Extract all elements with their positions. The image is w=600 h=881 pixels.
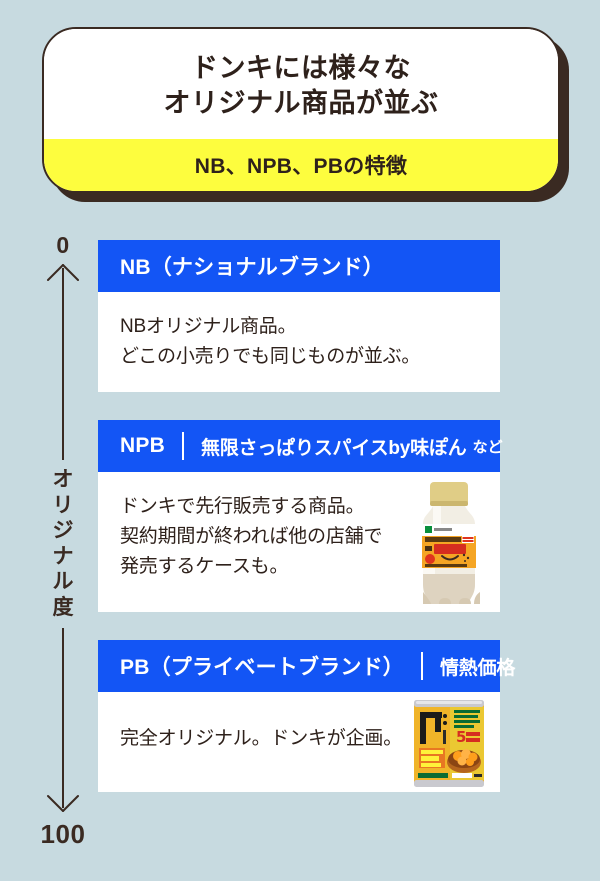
section-npb-example: 無限さっぱりスパイスby味ぽん [201,433,467,460]
section-pb: PB（プライベートブランド） 情熱価格 完全オリジナル。ドンキが企画。 [98,640,500,792]
section-npb-title: NPB [120,434,165,458]
section-npb-line: ドンキで先行販売する商品。 [120,492,388,522]
brand-type-sections: NB（ナショナルブランド） NBオリジナル商品。 どこの小売りでも同じものが並ぶ… [98,240,500,792]
page-title: ドンキには様々な オリジナル商品が並ぶ [44,29,558,139]
svg-text:5: 5 [456,728,466,746]
axis-label-char: 度 [47,595,79,621]
axis-label: オ リ ジ ナ ル 度 [47,460,79,628]
axis-label-char: ル [47,569,79,595]
axis-label-char: ナ [47,544,79,570]
section-npb-header: NPB 無限さっぱりスパイスby味ぽん など [98,420,500,472]
section-pb-title: PB（プライベートブランド） [120,651,404,681]
page-subtitle-band: NB、NPB、PBの特徴 [44,139,558,191]
section-npb: NPB 無限さっぱりスパイスby味ぽん など ドンキで先行販売する商品。 契約期… [98,420,500,612]
product-image-mikan-can: 5 [406,696,492,792]
page-title-line-1: ドンキには様々な [191,51,411,86]
section-pb-line: 完全オリジナル。ドンキが企画。 [120,724,388,754]
section-npb-body: ドンキで先行販売する商品。 契約期間が終われば他の店舗で 発売するケースも。 [98,472,500,612]
header-card-wrapper: ドンキには様々な オリジナル商品が並ぶ NB、NPB、PBの特徴 [42,27,569,202]
section-nb-line: どこの小売りでも同じものが並ぶ。 [120,342,478,372]
section-npb-divider [182,432,184,460]
axis-label-char: ジ [47,518,79,544]
section-nb: NB（ナショナルブランド） NBオリジナル商品。 どこの小売りでも同じものが並ぶ… [98,240,500,392]
axis-label-char: リ [47,493,79,519]
axis-value-bottom: 100 [30,819,96,850]
axis-label-char: オ [47,467,79,493]
header-card: ドンキには様々な オリジナル商品が並ぶ NB、NPB、PBの特徴 [42,27,560,193]
section-nb-header: NB（ナショナルブランド） [98,240,500,292]
section-pb-example: 情熱価格 [440,653,515,680]
axis-value-top: 0 [30,232,96,259]
section-pb-header: PB（プライベートブランド） 情熱価格 [98,640,500,692]
originality-axis: 0 オ リ ジ ナ ル 度 100 [30,232,96,850]
section-npb-line: 発売するケースも。 [120,552,388,582]
section-npb-example-suffix: など [473,436,503,457]
section-nb-title: NB（ナショナルブランド） [120,251,384,281]
arrow-down-icon [44,794,82,812]
page-subtitle: NB、NPB、PBの特徴 [195,150,407,180]
section-nb-line: NBオリジナル商品。 [120,312,478,342]
section-pb-divider [421,652,423,680]
section-pb-body: 完全オリジナル。ドンキが企画。 [98,692,500,792]
section-npb-line: 契約期間が終われば他の店舗で [120,522,388,552]
arrow-up-icon [44,264,82,282]
section-nb-body: NBオリジナル商品。 どこの小売りでも同じものが並ぶ。 [98,292,500,392]
product-image-ajipon-bottle [406,480,492,612]
page-title-line-2: オリジナル商品が並ぶ [164,86,439,121]
